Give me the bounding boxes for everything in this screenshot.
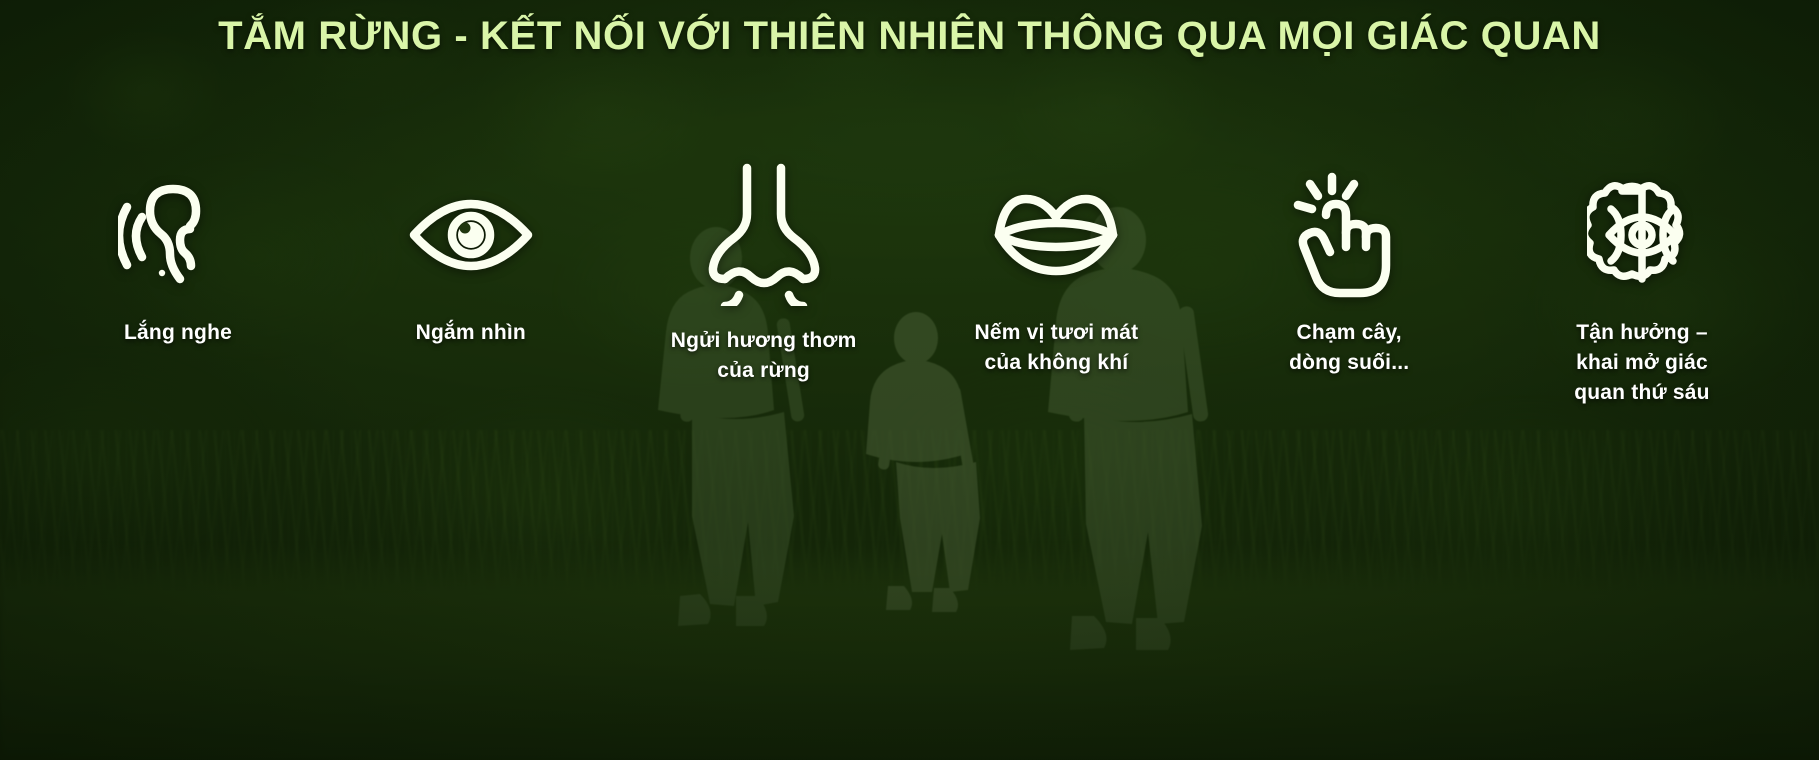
sense-label-touch: Chạm cây, dòng suối... <box>1289 318 1409 378</box>
eye-icon <box>408 170 534 300</box>
sense-label-sight: Ngắm nhìn <box>416 318 526 348</box>
sense-label-sixth: Tận hưởng – khai mở giác quan thứ sáu <box>1574 318 1709 407</box>
sense-item-hearing[interactable]: Lắng nghe <box>60 170 296 348</box>
forest-bathing-banner: TẮM RỪNG - KẾT NỐI VỚI THIÊN NHIÊN THÔNG… <box>0 0 1819 760</box>
brain-eye-icon <box>1587 170 1697 300</box>
sense-label-taste: Nếm vị tươi mát của không khí <box>974 318 1138 378</box>
ear-listening-icon <box>118 170 238 300</box>
page-title: TẮM RỪNG - KẾT NỐI VỚI THIÊN NHIÊN THÔNG… <box>0 14 1819 59</box>
nose-smell-icon <box>699 156 829 308</box>
sense-item-smell[interactable]: Ngửi hương thơm của rừng <box>646 170 882 386</box>
sense-item-sight[interactable]: Ngắm nhìn <box>353 170 589 348</box>
senses-row: Lắng nghe Ngắm nhìn <box>60 170 1760 407</box>
sense-label-smell: Ngửi hương thơm của rừng <box>671 326 857 386</box>
sense-item-sixth[interactable]: Tận hưởng – khai mở giác quan thứ sáu <box>1524 170 1760 407</box>
sense-item-touch[interactable]: Chạm cây, dòng suối... <box>1231 170 1467 378</box>
hand-touch-icon <box>1288 170 1410 300</box>
sense-item-taste[interactable]: Nếm vị tươi mát của không khí <box>938 170 1174 378</box>
sense-label-hearing: Lắng nghe <box>124 318 232 348</box>
lips-taste-icon <box>993 170 1119 300</box>
